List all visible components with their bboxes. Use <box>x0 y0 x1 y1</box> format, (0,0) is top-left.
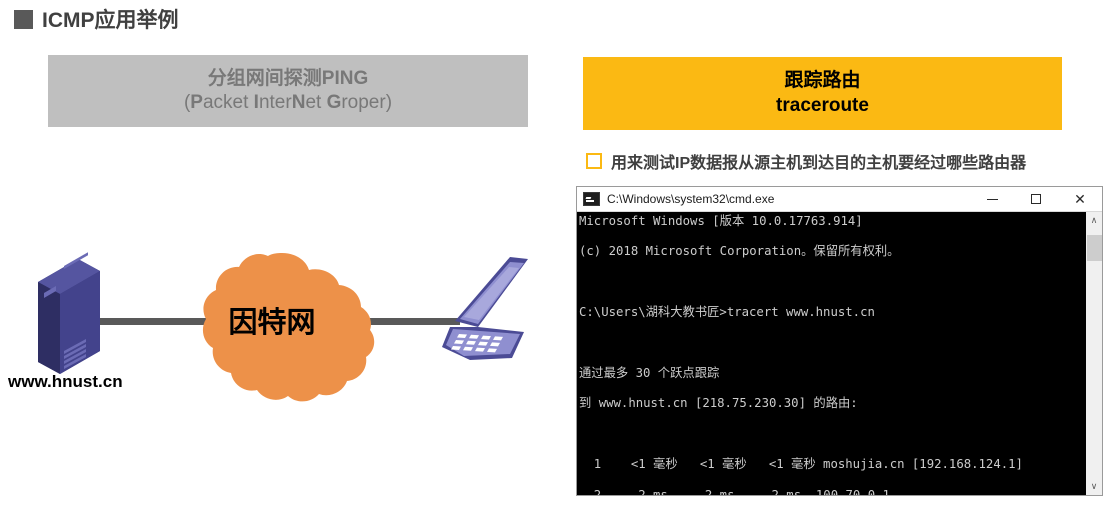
cmd-output[interactable]: Microsoft Windows [版本 10.0.17763.914] (c… <box>577 212 1085 495</box>
cmd-app-icon <box>583 192 600 206</box>
minimize-button[interactable] <box>970 187 1014 211</box>
cmd-window-title: C:\Windows\system32\cmd.exe <box>607 192 970 206</box>
scroll-up-arrow-icon[interactable]: ∧ <box>1086 212 1103 229</box>
title-bullet-icon <box>14 10 33 29</box>
ping-title-cn: 分组网间探测PING <box>208 67 368 91</box>
bullet-item: 用来测试IP数据报从源主机到达目的主机要经过哪些路由器 <box>586 149 1026 173</box>
page-title: ICMP应用举例 <box>14 4 179 34</box>
scroll-track[interactable] <box>1086 229 1102 478</box>
maximize-icon <box>1031 194 1041 204</box>
cmd-blank-line <box>579 427 1085 442</box>
laptop-icon <box>442 257 528 360</box>
cmd-blank-line <box>579 336 1085 351</box>
minimize-icon <box>987 199 998 200</box>
server-icon <box>38 252 100 374</box>
scroll-thumb[interactable] <box>1087 235 1102 261</box>
ping-title-en: (Packet InterNet Groper) <box>184 91 392 115</box>
cmd-line: C:\Users\湖科大教书匠>tracert www.hnust.cn <box>579 305 1085 320</box>
traceroute-title-cn: 跟踪路由 <box>784 69 860 94</box>
cmd-line: 1 <1 毫秒 <1 毫秒 <1 毫秒 moshujia.cn [192.168… <box>579 457 1085 472</box>
page-title-text: ICMP应用举例 <box>42 4 179 34</box>
window-controls: ✕ <box>970 187 1102 211</box>
maximize-button[interactable] <box>1014 187 1058 211</box>
cmd-body: Microsoft Windows [版本 10.0.17763.914] (c… <box>577 212 1102 495</box>
slide-canvas: ICMP应用举例 分组网间探测PING (Packet InterNet Gro… <box>0 0 1119 511</box>
internet-cloud-icon: 因特网 <box>203 253 374 401</box>
cmd-scrollbar[interactable]: ∧ ∨ <box>1085 212 1102 495</box>
cmd-line: 通过最多 30 个跃点跟踪 <box>579 366 1085 381</box>
cmd-line: 2 2 ms 2 ms 2 ms 100.70.0.1 <box>579 488 1085 495</box>
cmd-line: (c) 2018 Microsoft Corporation。保留所有权利。 <box>579 244 1085 259</box>
cmd-window: C:\Windows\system32\cmd.exe ✕ Microsoft … <box>576 186 1103 496</box>
square-bullet-icon <box>586 153 602 169</box>
ping-callout-box: 分组网间探测PING (Packet InterNet Groper) <box>48 55 528 127</box>
traceroute-title-en: traceroute <box>776 94 869 119</box>
server-hostname-label: www.hnust.cn <box>8 372 123 392</box>
close-button[interactable]: ✕ <box>1058 187 1102 211</box>
cmd-titlebar[interactable]: C:\Windows\system32\cmd.exe ✕ <box>577 187 1102 212</box>
traceroute-callout-box: 跟踪路由 traceroute <box>583 57 1062 130</box>
scroll-down-arrow-icon[interactable]: ∨ <box>1086 478 1103 495</box>
close-icon: ✕ <box>1074 192 1086 206</box>
cmd-line: 到 www.hnust.cn [218.75.230.30] 的路由: <box>579 396 1085 411</box>
cmd-line: Microsoft Windows [版本 10.0.17763.914] <box>579 214 1085 229</box>
cloud-label: 因特网 <box>228 306 315 339</box>
bullet-item-label: 用来测试IP数据报从源主机到达目的主机要经过哪些路由器 <box>611 149 1026 173</box>
cmd-blank-line <box>579 275 1085 290</box>
